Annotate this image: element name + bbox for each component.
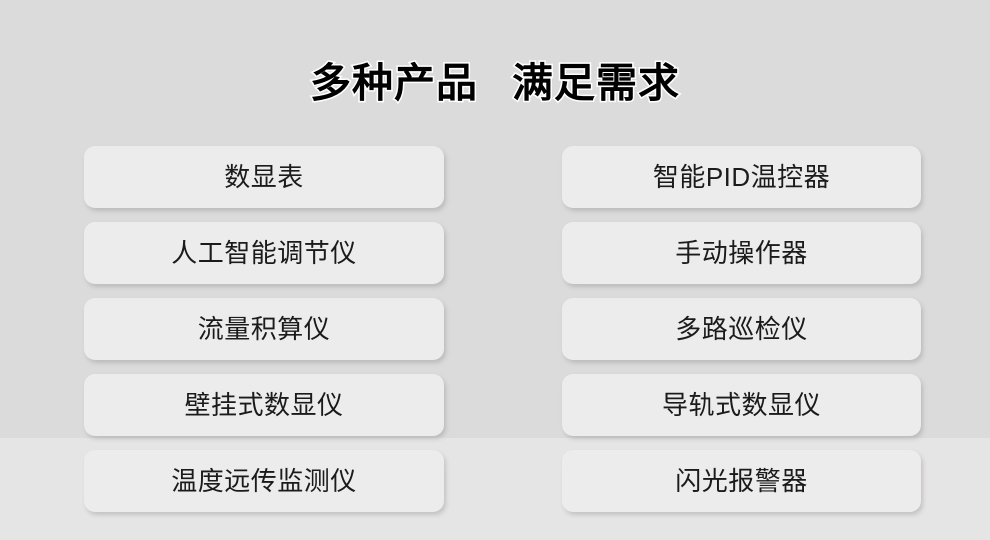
product-card-label: 人工智能调节仪 <box>171 240 357 266</box>
product-card-smart-pid-temp-controller[interactable]: 智能PID温控器 <box>562 146 921 208</box>
page-title: 多种产品 满足需求 <box>0 53 990 113</box>
page-title-part-two: 满足需求 <box>512 63 680 104</box>
product-card-label: 闪光报警器 <box>675 468 808 494</box>
product-card-multi-channel-inspector[interactable]: 多路巡检仪 <box>562 298 921 360</box>
product-card-label: 多路巡检仪 <box>675 316 808 342</box>
product-card-manual-operator[interactable]: 手动操作器 <box>562 222 921 284</box>
product-card-flow-totalizer[interactable]: 流量积算仪 <box>84 298 444 360</box>
product-card-label: 壁挂式数显仪 <box>184 392 343 418</box>
product-card-flash-alarm[interactable]: 闪光报警器 <box>562 450 921 512</box>
product-card-din-rail-digital-display[interactable]: 导轨式数显仪 <box>562 374 921 436</box>
product-card-ai-regulator[interactable]: 人工智能调节仪 <box>84 222 444 284</box>
product-card-digital-display-meter[interactable]: 数显表 <box>84 146 444 208</box>
product-card-label: 手动操作器 <box>675 240 808 266</box>
product-card-label: 智能PID温控器 <box>653 164 830 190</box>
page-title-part-one: 多种产品 <box>310 63 478 104</box>
product-card-label: 流量积算仪 <box>198 316 331 342</box>
product-card-label: 数显表 <box>224 164 304 190</box>
product-card-wall-mounted-digital-display[interactable]: 壁挂式数显仪 <box>84 374 444 436</box>
product-card-remote-temp-monitor[interactable]: 温度远传监测仪 <box>84 450 444 512</box>
slide-canvas: 多种产品 满足需求 数显表 智能PID温控器 人工智能调节仪 手动操作器 流量积… <box>0 0 990 540</box>
product-card-label: 温度远传监测仪 <box>171 468 357 494</box>
product-card-grid: 数显表 智能PID温控器 人工智能调节仪 手动操作器 流量积算仪 多路巡检仪 壁… <box>84 146 921 512</box>
product-card-label: 导轨式数显仪 <box>662 392 821 418</box>
